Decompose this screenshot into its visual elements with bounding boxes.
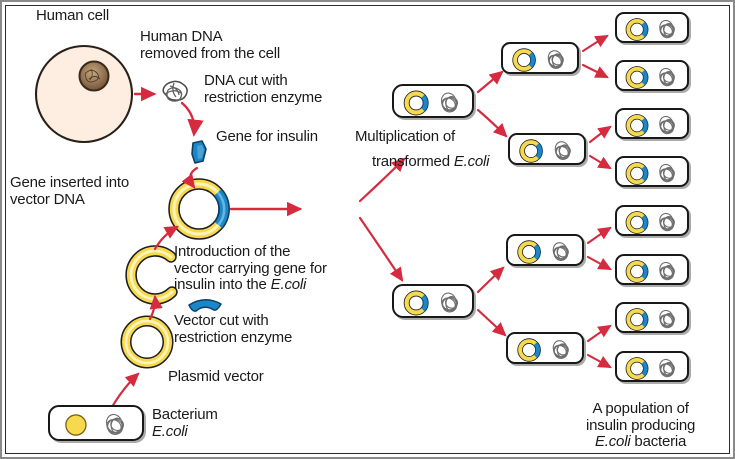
label-bacterium-ecoli: Bacterium E.coli xyxy=(152,407,218,440)
plasmid-vector-ring-shape xyxy=(126,321,168,363)
label-vector-cut: Vector cut with restriction enzyme xyxy=(174,313,292,346)
chromosomal-dna xyxy=(658,212,676,234)
arrow-top-split-b xyxy=(478,110,506,136)
chromosomal-dna xyxy=(551,339,570,361)
arrow-bottom-split-b xyxy=(478,310,505,335)
label-dna-cut: DNA cut with restriction enzyme xyxy=(204,73,322,106)
arrow-dna-to-gene xyxy=(182,103,194,134)
transformed-ecoli-cell xyxy=(392,84,474,118)
restriction-enzyme-cut-mark-shape xyxy=(189,300,221,311)
label-gene-inserted: Gene inserted into vector DNA xyxy=(10,175,129,208)
chromosomal-dna xyxy=(658,67,676,89)
arrow-recombinant-to-transformed-bottom xyxy=(360,218,402,280)
population-ecoli-cell xyxy=(615,205,689,236)
daughter-ecoli-cell xyxy=(501,42,579,74)
label-gene-for-insulin: Gene for insulin xyxy=(216,129,318,146)
insulin-production-diagram: Human cell Human DNA removed from the ce… xyxy=(0,0,735,459)
chromosomal-dna xyxy=(551,241,570,263)
chromosomal-dna xyxy=(439,91,459,115)
chromosomal-dna xyxy=(658,115,676,137)
population-ecoli-cell xyxy=(615,108,689,139)
arrow-g2-3-split-b xyxy=(588,257,610,269)
label-plasmid-vector: Plasmid vector xyxy=(168,369,264,386)
label-human-dna-removed: Human DNA removed from the cell xyxy=(140,29,280,62)
arrow-g2-3-split-a xyxy=(588,228,610,243)
label-multiplication: Multiplication of xyxy=(355,129,455,146)
population-ecoli-cell xyxy=(615,60,689,91)
population-ecoli-cell xyxy=(615,302,689,333)
chromosomal-dna xyxy=(546,49,565,71)
recombinant-plasmid-shape xyxy=(174,184,224,234)
population-ecoli-cell xyxy=(615,156,689,187)
bacterium-ecoli-cell xyxy=(48,405,144,441)
daughter-ecoli-cell xyxy=(506,332,584,364)
chromosomal-dna xyxy=(658,309,676,331)
plasmid-solid xyxy=(66,415,86,435)
chromosomal-dna xyxy=(104,412,125,437)
label-transformed-ecoli: transformed E.coli xyxy=(372,154,489,171)
arrow-g2-2-split-a xyxy=(590,127,610,142)
chromosomal-dna xyxy=(658,163,676,185)
population-ecoli-cell xyxy=(615,351,689,382)
arrow-top-split-a xyxy=(478,72,502,92)
chromosomal-dna xyxy=(553,140,572,162)
arrow-gene-to-plasmid xyxy=(190,168,197,187)
arrow-bacterium-to-plasmid xyxy=(112,374,138,407)
label-population: A population of insulin producing E.coli… xyxy=(586,401,695,451)
arrow-plasmid-to-cut xyxy=(150,297,155,319)
population-ecoli-cell xyxy=(615,254,689,285)
label-introduction: Introduction of the vector carrying gene… xyxy=(174,244,327,294)
chromosomal-dna xyxy=(658,19,676,41)
arrow-g2-4-split-b xyxy=(588,355,610,367)
arrow-g2-1-split-b xyxy=(583,65,607,77)
arrow-g2-1-split-a xyxy=(583,36,607,51)
arrow-g2-4-split-a xyxy=(588,326,610,341)
chromosomal-dna xyxy=(658,261,676,283)
insulin-gene-fragment-shape xyxy=(192,141,206,163)
transformed-ecoli-cell xyxy=(392,284,474,318)
daughter-ecoli-cell xyxy=(506,234,584,266)
arrow-bottom-split-a xyxy=(478,268,503,292)
arrow-g2-2-split-b xyxy=(590,156,610,168)
label-human-cell: Human cell xyxy=(36,8,109,25)
daughter-ecoli-cell xyxy=(508,133,586,165)
human-dna-tangle xyxy=(163,81,187,101)
population-ecoli-cell xyxy=(615,12,689,43)
chromosomal-dna xyxy=(439,291,459,315)
human-cell-shape xyxy=(36,46,132,142)
chromosomal-dna xyxy=(658,358,676,380)
cut-plasmid-vector-shape xyxy=(131,251,172,299)
